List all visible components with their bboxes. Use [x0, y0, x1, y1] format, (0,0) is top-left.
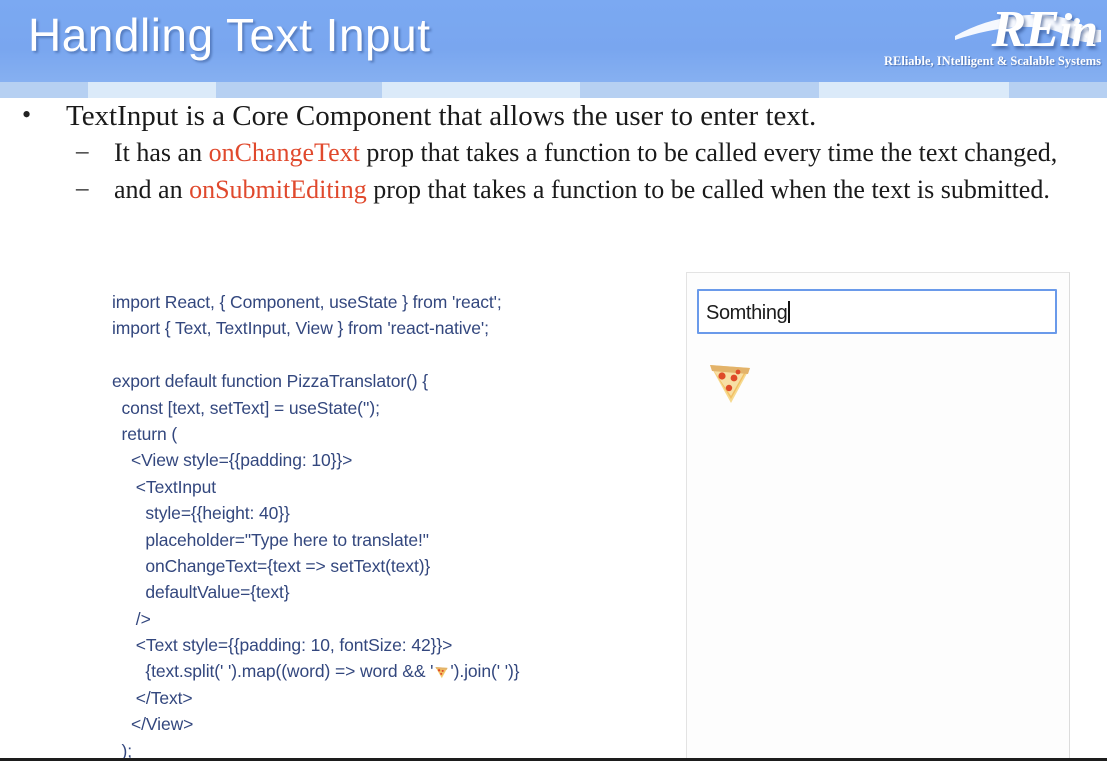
- keyword-onchangetext: onChangeText: [209, 138, 360, 167]
- logo-in-text: in: [1059, 4, 1097, 57]
- bullet-list: •TextInput is a Core Component that allo…: [0, 100, 1107, 205]
- code-line: export default function PizzaTranslator(…: [112, 368, 519, 394]
- code-line: </View>: [112, 711, 519, 737]
- code-line: {text.split(' ').map((word) => word && '…: [112, 658, 519, 684]
- pizza-slice-icon-inline: [433, 660, 450, 675]
- text-input-value: Somthing: [706, 301, 790, 325]
- code-line: style={{height: 40}}: [112, 500, 519, 526]
- dash-marker: –: [76, 174, 89, 203]
- app-preview-panel: Somthing: [686, 272, 1070, 761]
- header-banner: Handling Text Input REin REliable, INtel…: [0, 0, 1107, 82]
- code-line: <Text style={{padding: 10, fontSize: 42}…: [112, 632, 519, 658]
- code-line: <TextInput: [112, 474, 519, 500]
- logo-tagline: REliable, INtelligent & Scalable Systems: [884, 54, 1101, 69]
- bullet-level1: •TextInput is a Core Component that allo…: [0, 100, 1107, 132]
- decorative-strip: [0, 82, 1107, 98]
- bullet-marker: •: [22, 100, 31, 129]
- code-line: <View style={{padding: 10}}>: [112, 447, 519, 473]
- page-title: Handling Text Input: [28, 8, 430, 62]
- strip-segment-4: [580, 82, 819, 98]
- code-line: import { Text, TextInput, View } from 'r…: [112, 315, 519, 341]
- strip-segment-1: [88, 82, 216, 98]
- strip-segment-0: [0, 82, 88, 98]
- code-line: const [text, setText] = useState('');: [112, 395, 519, 421]
- code-line: [112, 342, 519, 368]
- code-line: placeholder="Type here to translate!": [112, 527, 519, 553]
- strip-segment-2: [216, 82, 382, 98]
- code-line: </Text>: [112, 685, 519, 711]
- code-line: onChangeText={text => setText(text)}: [112, 553, 519, 579]
- bullet-level2-onchangetext: –It has an onChangeText prop that takes …: [0, 138, 1107, 168]
- strip-segment-6: [1009, 82, 1107, 98]
- sub-bullet-pre-text: It has an: [114, 138, 209, 167]
- sub-bullet-post-text: prop that takes a function to be called …: [367, 175, 1050, 204]
- code-line: import React, { Component, useState } fr…: [112, 289, 519, 315]
- bullet-level2-onsubmitediting: –and an onSubmitEditing prop that takes …: [0, 175, 1107, 205]
- pizza-slice-icon: [705, 355, 755, 405]
- code-line-text: {text.split(' ').map((word) => word && ': [112, 661, 433, 681]
- logo-wordmark: REin: [992, 0, 1097, 59]
- sub-bullet-post-text: prop that takes a function to be called …: [360, 138, 1057, 167]
- logo-re-text: RE: [992, 1, 1059, 58]
- strip-segment-5: [819, 82, 1009, 98]
- keyword-onsubmitediting: onSubmitEditing: [189, 175, 367, 204]
- code-block: import React, { Component, useState } fr…: [112, 289, 519, 761]
- slide-canvas: Handling Text Input REin REliable, INtel…: [0, 0, 1107, 761]
- text-input-field[interactable]: Somthing: [697, 289, 1057, 334]
- bullet-level1-text: TextInput is a Core Component that allow…: [66, 100, 816, 132]
- code-line: />: [112, 606, 519, 632]
- text-cursor: [788, 301, 790, 323]
- code-line: return (: [112, 421, 519, 447]
- dash-marker: –: [76, 137, 89, 166]
- rein-logo: REin REliable, INtelligent & Scalable Sy…: [855, 2, 1105, 80]
- code-line: defaultValue={text}: [112, 579, 519, 605]
- code-line-text-tail: ').join(' ')}: [450, 661, 519, 681]
- sub-bullet-pre-text: and an: [114, 175, 189, 204]
- strip-segment-3: [382, 82, 580, 98]
